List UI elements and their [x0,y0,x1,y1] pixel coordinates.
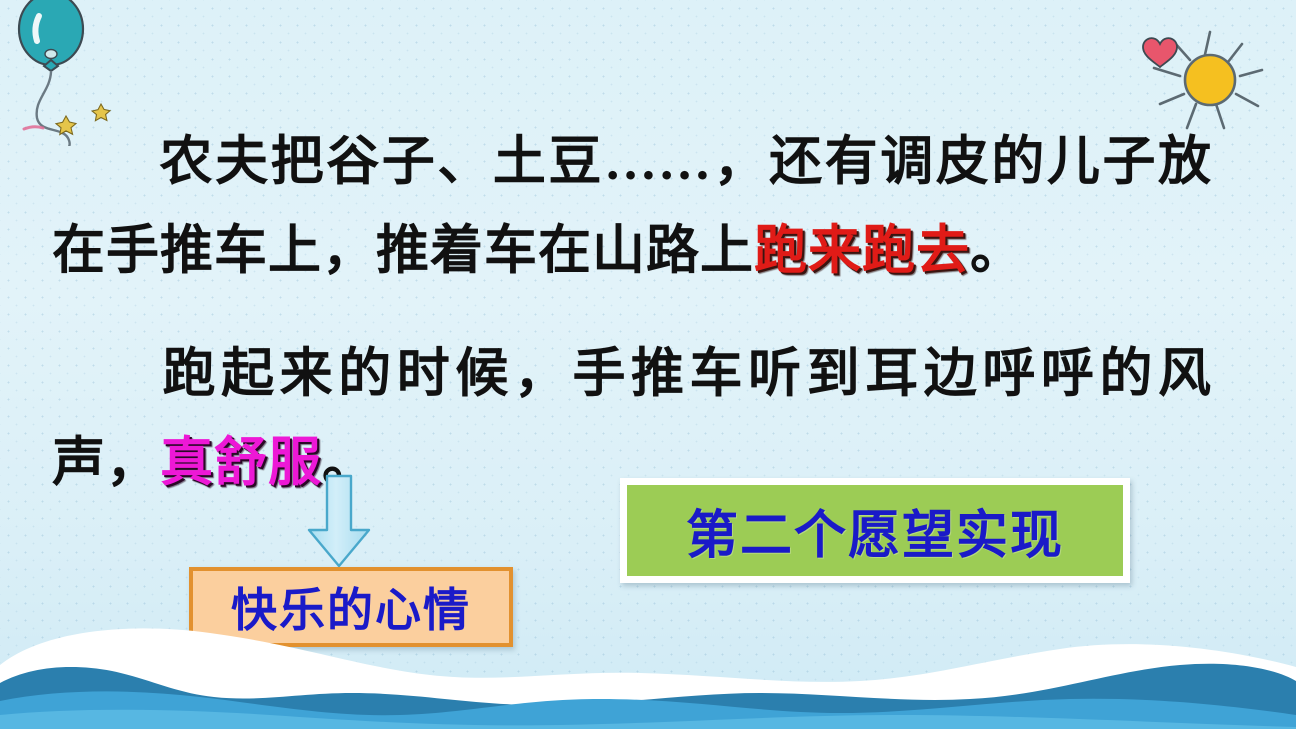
callout-green[interactable]: 第二个愿望实现 [620,478,1130,583]
body-text: 农夫把谷子、土豆……，还有调皮的儿子放在手推车上，推着车在山路上跑来跑去。 跑起… [52,118,1212,508]
wave-decoration [0,609,1296,729]
paragraph-1: 农夫把谷子、土豆……，还有调皮的儿子放在手推车上，推着车在山路上跑来跑去。 [52,118,1212,296]
paragraph-1-highlight-red: 跑来跑去 [754,222,970,280]
paragraph-1-segment-0: 农夫把谷子、土豆……，还有调皮的儿子放在手推车上，推着车在山路上 [52,133,1212,280]
slide-canvas: 农夫把谷子、土豆……，还有调皮的儿子放在手推车上，推着车在山路上跑来跑去。 跑起… [0,0,1296,729]
down-arrow-icon [297,472,381,570]
callout-green-label: 第二个愿望实现 [686,493,1064,568]
paragraph-1-segment-2: 。 [970,222,1024,280]
